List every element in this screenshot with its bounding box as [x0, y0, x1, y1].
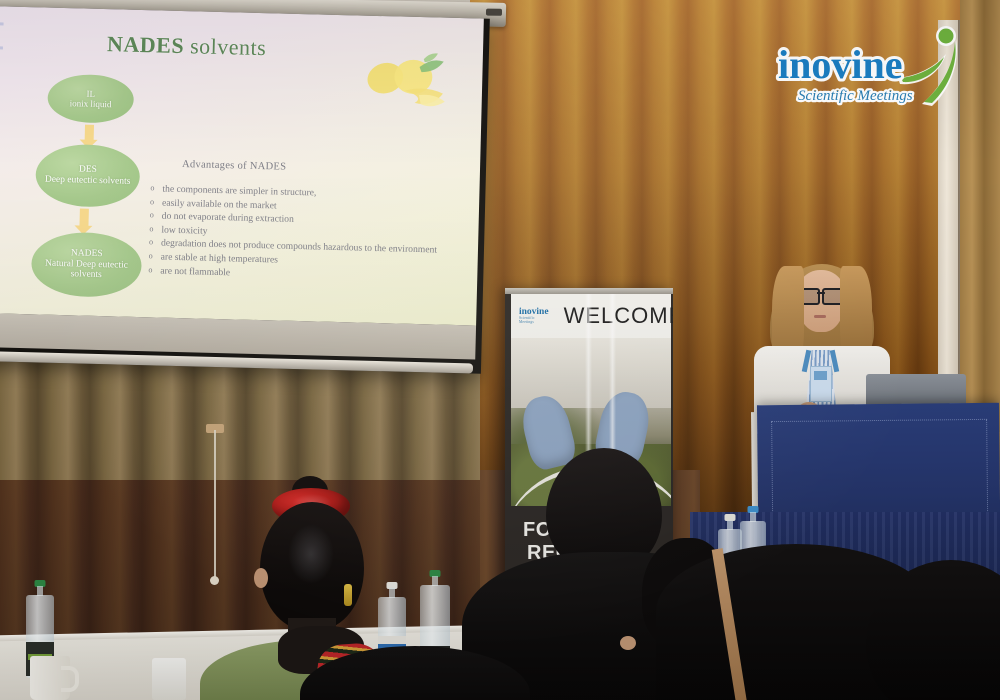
flow-node-il: ILionix liquid: [47, 74, 134, 124]
advantages-list: the components are simpler in structure,…: [147, 182, 447, 285]
attendee-ear: [620, 636, 636, 650]
conference-photo: NADES solvents ILionix liquid DESDeep eu: [0, 0, 1000, 700]
flow-abbr: IL: [86, 89, 95, 99]
flow-abbr: DES: [79, 165, 97, 175]
flow-node-des: DESDeep eutectic solvents: [35, 143, 141, 208]
banner-logo: inovine Scientific Meetings: [519, 308, 549, 325]
flow-abbr: NADES: [71, 248, 103, 259]
earring: [344, 584, 352, 606]
lemons-illustration: [360, 50, 472, 115]
slide-edge-mark: [0, 46, 3, 49]
logo-wordmark: inovine: [778, 42, 902, 87]
logo-tagline: Scientific Meetings: [798, 88, 913, 104]
flow-arrow-1: [85, 125, 94, 141]
inovine-logo-overlay: inovine inovine Scientific Meetings Scie…: [770, 26, 984, 124]
slide-surface: NADES solvents ILionix liquid DESDeep eu: [0, 6, 484, 325]
attendee-ear: [254, 568, 268, 588]
slide-edge-mark: [0, 22, 4, 25]
hair-highlight: [288, 524, 334, 584]
presentation-slide: NADES solvents ILionix liquid DESDeep eu: [0, 6, 484, 325]
slide-title-rest: solvents: [184, 33, 267, 60]
slide-title-strong: NADES: [107, 31, 185, 58]
screen-pull-cord-ball[interactable]: [210, 576, 219, 585]
flow-name: Deep eutectic solvents: [45, 175, 131, 187]
flow-name: ionix liquid: [70, 98, 112, 109]
speaker-mouth: [814, 315, 826, 318]
speaker: [762, 258, 882, 408]
screen-pull-cord[interactable]: [214, 430, 216, 580]
flow-node-nades: NADESNatural Deep eutectic solvents: [31, 231, 143, 298]
banner-headline: WELCOME: [564, 303, 673, 329]
flow-name: Natural Deep eutectic solvents: [45, 258, 128, 280]
attendee-far-right: [866, 560, 1000, 700]
water-glass-audience-left[interactable]: [152, 658, 186, 700]
roller-end-cap: [486, 9, 502, 16]
banner-logo-tagline: Scientific Meetings: [519, 317, 549, 324]
slide-title: NADES solvents: [107, 31, 267, 61]
advantages-heading: Advantages of NADES: [182, 159, 287, 173]
name-badge: [810, 366, 832, 402]
projection-screen: NADES solvents ILionix liquid DESDeep eu: [0, 6, 490, 374]
coffee-mug[interactable]: [30, 656, 70, 700]
leaf-icon: [550, 306, 557, 327]
flow-arrow-2: [79, 208, 88, 226]
attendee-head: [866, 560, 1000, 700]
